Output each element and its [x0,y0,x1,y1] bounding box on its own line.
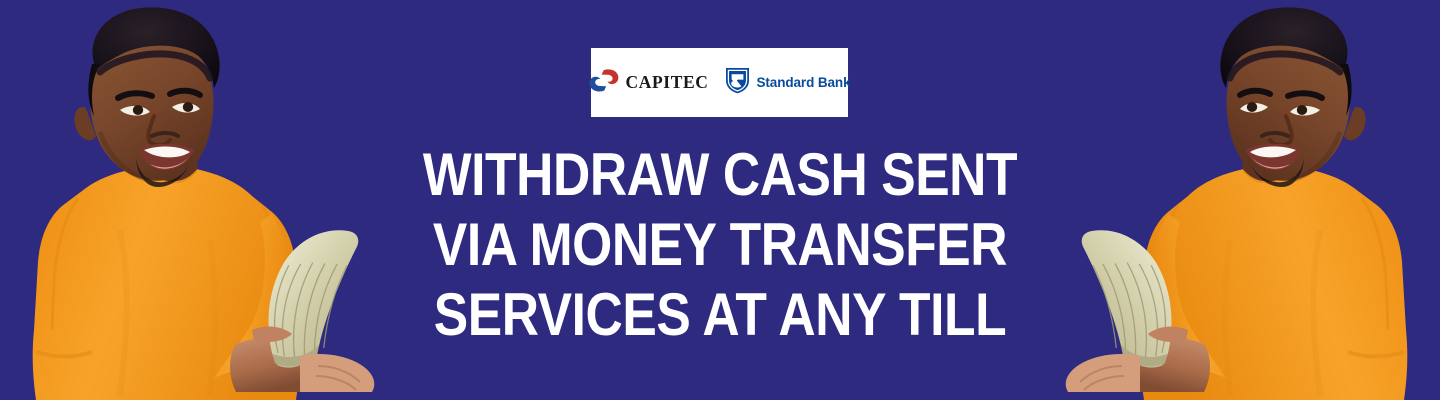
headline-line-1: WITHDRAW CASH SENT [101,140,1339,210]
standard-bank-wordmark: Standard Bank [757,76,851,90]
capitec-wordmark: CAPITEC [626,74,709,92]
headline: WITHDRAW CASH SENT VIA MONEY TRANSFER SE… [0,140,1440,350]
promo-banner: CAPITEC Standard Bank WITHDRAW CASH SENT… [0,0,1440,400]
headline-line-3: SERVICES AT ANY TILL [101,280,1339,350]
capitec-logo: CAPITEC [589,69,709,97]
standard-bank-shield-icon [725,67,750,99]
capitec-mark-icon [589,69,619,97]
standard-bank-logo: Standard Bank [725,67,851,99]
bank-logos-panel: CAPITEC Standard Bank [591,48,848,117]
headline-line-2: VIA MONEY TRANSFER [101,210,1339,280]
